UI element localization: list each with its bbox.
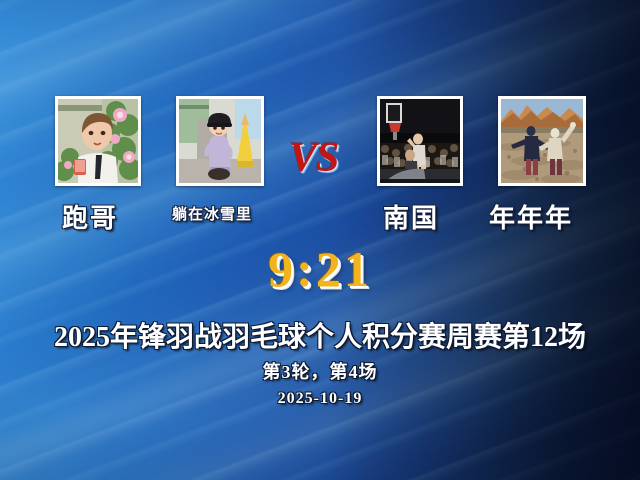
event-title: 2025年锋羽战羽毛球个人积分赛周赛第12场 — [0, 315, 640, 355]
photo-thumbnail — [58, 99, 138, 183]
portrait-illustration-icon — [58, 99, 138, 183]
photo-thumbnail — [501, 99, 583, 183]
round-and-match-label: 第3轮，第4场 — [0, 358, 640, 384]
scoreboard-slide: 跑哥 — [0, 0, 640, 480]
match-date: 2025-10-19 — [0, 390, 640, 408]
player-name-right-2: 年年年 — [489, 198, 573, 235]
player-name-right-1: 南国 — [383, 198, 439, 235]
photo-thumbnail — [179, 99, 261, 183]
basketball-game-photo-icon — [380, 99, 460, 183]
player-name-left-2: 躺在冰雪里 — [172, 203, 252, 224]
player-name-left-1: 跑哥 — [62, 198, 118, 235]
player-photo-nan-guo[interactable] — [377, 96, 463, 186]
match-score: 9:21 — [0, 240, 640, 298]
photo-thumbnail — [380, 99, 460, 183]
child-photo-icon — [179, 99, 261, 183]
desert-landscape-photo-icon — [501, 99, 583, 183]
vs-label: VS — [289, 134, 338, 182]
player-photo-tang-zai-bing-xue-li[interactable] — [176, 96, 264, 186]
player-photo-nian-nian-nian[interactable] — [498, 96, 586, 186]
player-photo-pao-ge[interactable] — [55, 96, 141, 186]
